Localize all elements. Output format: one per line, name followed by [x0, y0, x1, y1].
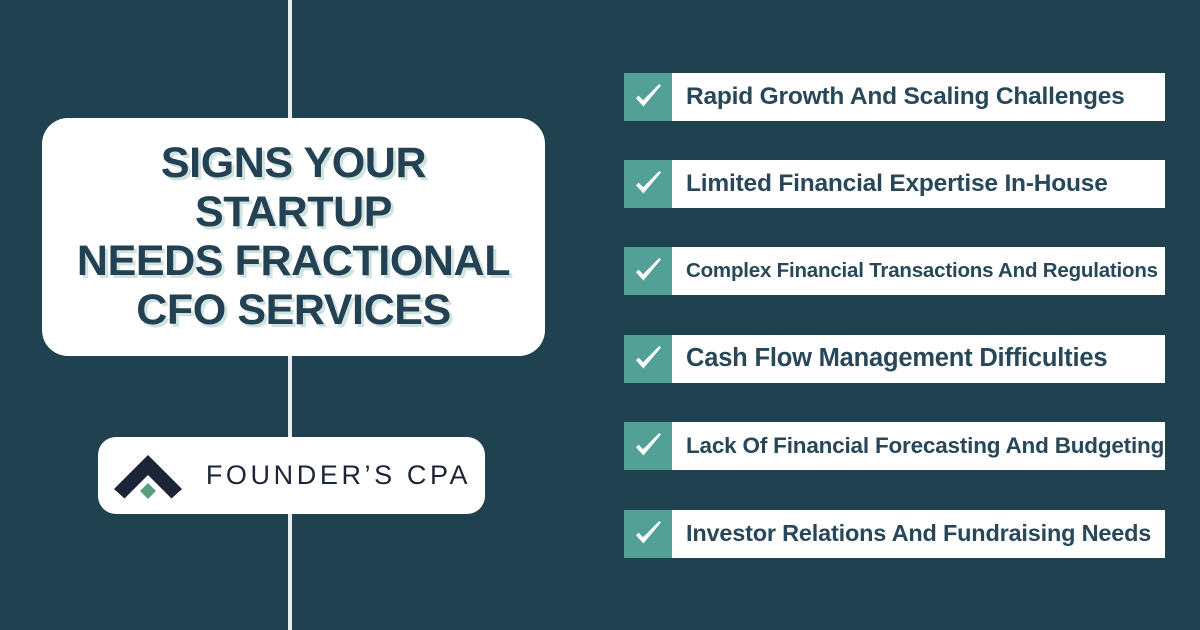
check-icon [624, 510, 672, 558]
list-item[interactable]: Complex Financial Transactions And Regul… [624, 247, 1165, 295]
check-icon [624, 422, 672, 470]
infographic-canvas: SIGNS YOUR STARTUP NEEDS FRACTIONAL CFO … [0, 0, 1200, 630]
check-icon [624, 335, 672, 383]
logo-wordmark: FOUNDER’S CPA [206, 462, 471, 489]
list-item[interactable]: Investor Relations And Fundraising Needs [624, 510, 1165, 558]
list-item-label: Complex Financial Transactions And Regul… [672, 247, 1165, 295]
list-item[interactable]: Cash Flow Management Difficulties [624, 335, 1165, 383]
list-item[interactable]: Lack Of Financial Forecasting And Budget… [624, 422, 1165, 470]
page-title: SIGNS YOUR STARTUP NEEDS FRACTIONAL CFO … [60, 139, 527, 335]
check-icon [624, 247, 672, 295]
list-item-label: Investor Relations And Fundraising Needs [672, 510, 1165, 558]
chevron-diamond-logo-icon [112, 453, 184, 499]
checklist: Rapid Growth And Scaling Challenges Limi… [624, 73, 1165, 558]
list-item-label: Lack Of Financial Forecasting And Budget… [672, 422, 1165, 470]
check-icon [624, 73, 672, 121]
list-item[interactable]: Limited Financial Expertise In-House [624, 160, 1165, 208]
left-column: SIGNS YOUR STARTUP NEEDS FRACTIONAL CFO … [0, 0, 600, 630]
title-card: SIGNS YOUR STARTUP NEEDS FRACTIONAL CFO … [42, 118, 545, 356]
list-item-label: Rapid Growth And Scaling Challenges [672, 73, 1165, 121]
check-icon [624, 160, 672, 208]
list-item-label: Limited Financial Expertise In-House [672, 160, 1165, 208]
logo-card[interactable]: FOUNDER’S CPA [98, 437, 485, 514]
list-item[interactable]: Rapid Growth And Scaling Challenges [624, 73, 1165, 121]
list-item-label: Cash Flow Management Difficulties [672, 335, 1165, 383]
